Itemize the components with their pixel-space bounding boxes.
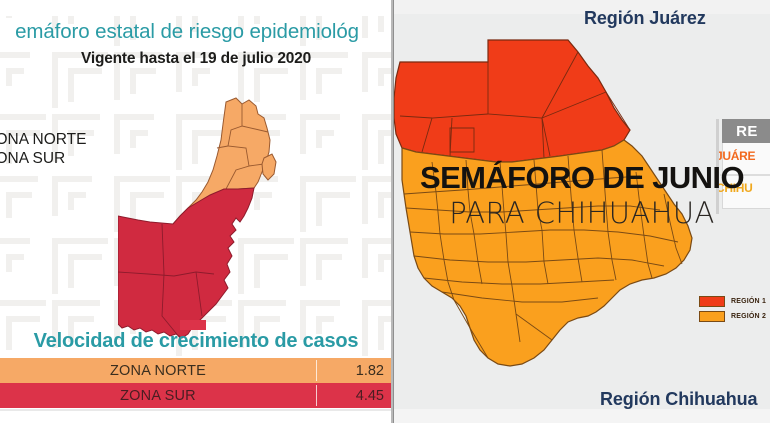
right-bottom-band <box>394 409 770 423</box>
zona-norte-map-label: ZONA NORTE <box>0 131 86 149</box>
left-panel-subtitle: Vigente hasta el 19 de julio 2020 <box>0 50 392 68</box>
region-juarez-label: Región Juárez <box>584 8 706 29</box>
table-cell-value: 4.45 <box>316 388 392 404</box>
legend-swatch-region1 <box>699 296 725 307</box>
screenshot-root: emáforo estatal de riesgo epidemiológ Vi… <box>0 0 770 423</box>
region-chihuahua-label: Región Chihuahua <box>600 389 757 410</box>
left-top-white-bar <box>0 0 392 16</box>
table-column-divider <box>316 385 317 406</box>
table-column-divider <box>316 360 317 381</box>
table-cell-label: ZONA SUR <box>0 388 316 404</box>
legend-item: REGIÓN 1 <box>699 296 766 307</box>
overlay-subtitle: PARA CHIHUAHUA <box>394 196 770 230</box>
map-legend: REGIÓN 1 REGIÓN 2 <box>699 296 766 326</box>
table-cell-label: ZONA NORTE <box>0 363 316 379</box>
legend-label: REGIÓN 2 <box>731 313 766 320</box>
legend-swatch-region2 <box>699 311 725 322</box>
legend-label: REGIÓN 1 <box>731 298 766 305</box>
velocidad-table: ZONA NORTE 1.82 ZONA SUR 4.45 <box>0 358 392 408</box>
zona-sur-map-label: ZONA SUR <box>0 150 65 168</box>
velocidad-table-title: Velocidad de crecimiento de casos <box>0 330 392 353</box>
left-red-marker <box>180 320 206 330</box>
table-row: ZONA SUR 4.45 <box>0 383 392 408</box>
legend-item: REGIÓN 2 <box>699 311 766 322</box>
quintana-roo-map <box>118 96 318 346</box>
left-panel-title: emáforo estatal de riesgo epidemiológ <box>0 20 392 44</box>
left-bottom-rule <box>0 409 392 411</box>
panel-divider-shadow <box>393 0 394 423</box>
edge-card-header: RE <box>722 119 770 143</box>
right-top-band <box>394 0 770 14</box>
overlay-title: SEMÁFORO DE JUNIO <box>394 160 770 196</box>
left-panel-quintana-roo: emáforo estatal de riesgo epidemiológ Vi… <box>0 0 392 423</box>
table-row: ZONA NORTE 1.82 <box>0 358 392 383</box>
table-cell-value: 1.82 <box>316 363 392 379</box>
